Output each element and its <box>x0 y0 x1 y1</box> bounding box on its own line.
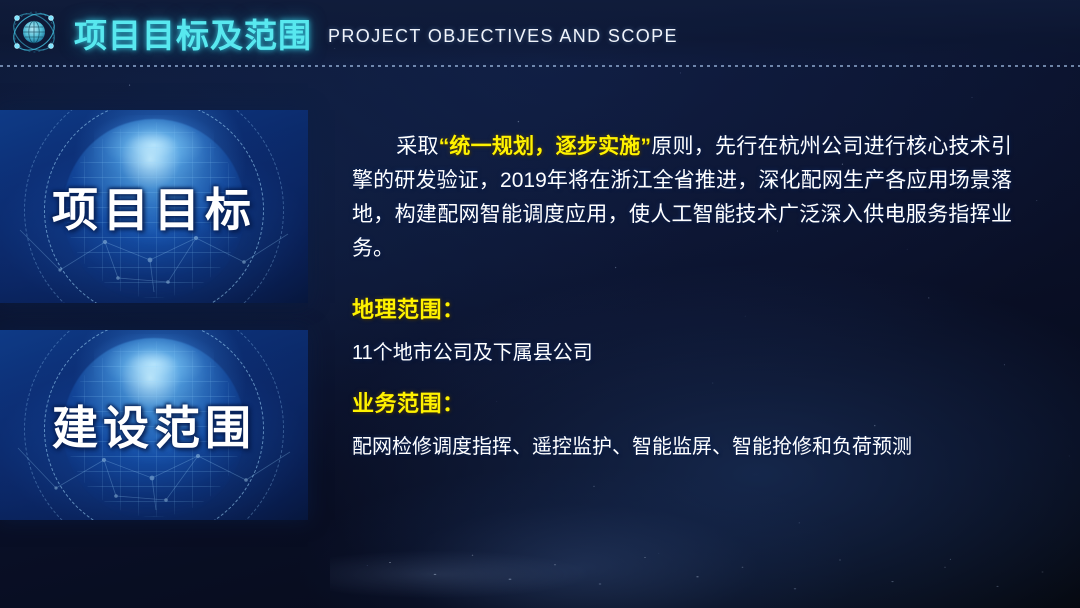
slide-header: 项目目标及范围 PROJECT OBJECTIVES AND SCOPE <box>0 0 1080 66</box>
bottom-glow <box>300 468 860 608</box>
card-project-objectives[interactable]: 项目目标 <box>0 110 308 303</box>
paragraph-highlight: “统一规划，逐步实施” <box>439 135 651 158</box>
objectives-paragraph: 采取“统一规划，逐步实施”原则，先行在杭州公司进行核心技术引擎的研发验证，201… <box>352 130 1012 266</box>
card-label: 建设范围 <box>0 392 308 458</box>
section-body: 11个地市公司及下属县公司 <box>352 338 1012 368</box>
header-divider <box>0 65 1080 67</box>
section-geographic-scope: 地理范围： 11个地市公司及下属县公司 <box>352 292 1012 368</box>
section-heading: 地理范围： <box>352 292 1012 324</box>
page-title: 项目目标及范围 <box>74 9 312 57</box>
slide-canvas: 项目目标及范围 PROJECT OBJECTIVES AND SCOPE <box>0 0 1080 608</box>
content-area: 采取“统一规划，逐步实施”原则，先行在杭州公司进行核心技术引擎的研发验证，201… <box>352 130 1012 462</box>
section-heading: 业务范围： <box>352 386 1012 418</box>
section-business-scope: 业务范围： 配网检修调度指挥、遥控监护、智能监屏、智能抢修和负荷预测 <box>352 386 1012 462</box>
card-construction-scope[interactable]: 建设范围 <box>0 330 308 520</box>
globe-network-icon <box>6 4 62 60</box>
particle-sparkle-band <box>330 488 1080 608</box>
paragraph-lead: 采取 <box>396 135 439 158</box>
section-body: 配网检修调度指挥、遥控监护、智能监屏、智能抢修和负荷预测 <box>352 432 1012 462</box>
card-label: 项目目标 <box>0 174 308 240</box>
page-subtitle: PROJECT OBJECTIVES AND SCOPE <box>328 26 678 47</box>
